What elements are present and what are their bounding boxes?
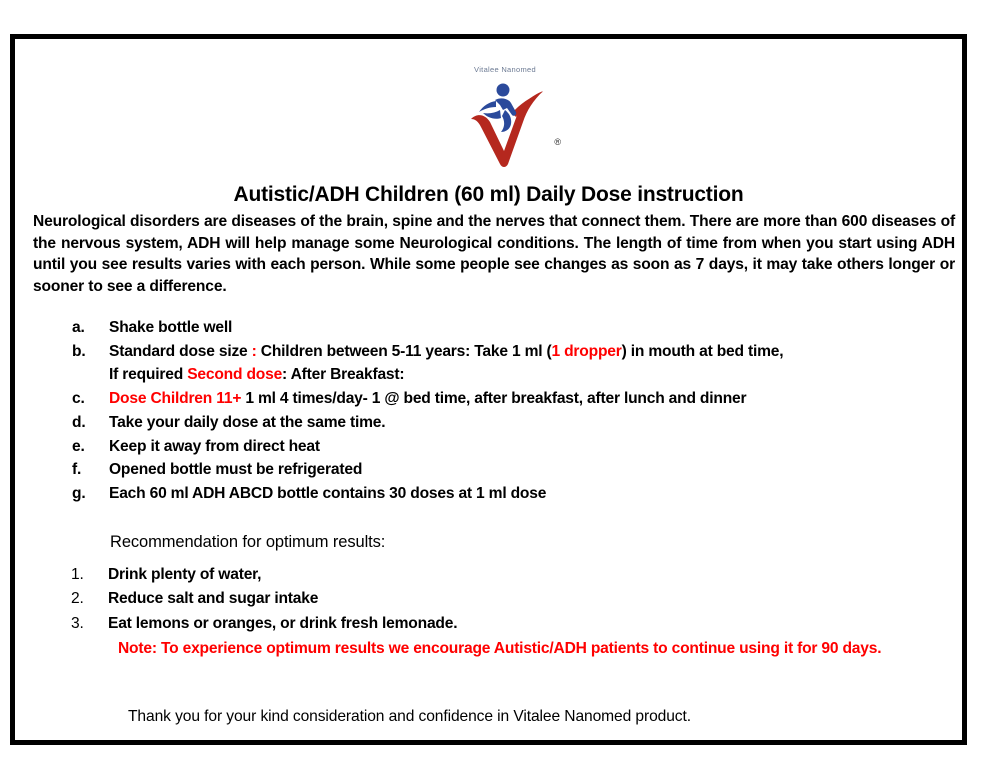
text-segment: Dose Children 11+ <box>109 390 241 407</box>
text-segment: Children between 5-11 years: Take 1 ml ( <box>257 343 552 360</box>
recommendation-list: 1.Drink plenty of water,2.Reduce salt an… <box>15 563 962 636</box>
text-segment: Opened bottle must be refrigerated <box>109 461 362 478</box>
list-item: f.Opened bottle must be refrigerated <box>15 458 962 482</box>
list-item-text: Reduce salt and sugar intake <box>108 587 962 611</box>
list-item-text: Drink plenty of water, <box>108 563 962 587</box>
text-segment: : After Breakfast: <box>282 366 404 383</box>
document-content-area: Vitalee Nanomed ® <box>15 39 962 740</box>
text-segment: Take your daily dose at the same time. <box>109 414 385 431</box>
list-item-text: Each 60 ml ADH ABCD bottle contains 30 d… <box>109 482 962 506</box>
text-segment: Keep it away from direct heat <box>109 438 320 455</box>
list-item: e.Keep it away from direct heat <box>15 435 962 459</box>
list-item-marker: 2. <box>71 587 108 611</box>
text-segment: Second dose <box>187 366 282 383</box>
list-item-marker: 1. <box>71 563 108 587</box>
document-page: Vitalee Nanomed ® <box>0 0 994 774</box>
text-segment: Each 60 ml ADH ABCD bottle contains 30 d… <box>109 485 546 502</box>
text-segment: If required <box>109 366 187 383</box>
list-item-marker: c. <box>72 387 109 411</box>
page-title: Autistic/ADH Children (60 ml) Daily Dose… <box>15 183 962 207</box>
text-segment: Shake bottle well <box>109 319 232 336</box>
instruction-list: a.Shake bottle wellb.Standard dose size … <box>15 316 962 506</box>
list-item: a.Shake bottle well <box>15 316 962 340</box>
document-border-frame: Vitalee Nanomed ® <box>10 34 967 745</box>
list-item: d.Take your daily dose at the same time. <box>15 411 962 435</box>
text-segment: 1 dropper <box>552 343 622 360</box>
brand-logo: Vitalee Nanomed ® <box>455 63 555 173</box>
list-item-text: Eat lemons or oranges, or drink fresh le… <box>108 612 962 636</box>
intro-paragraph: Neurological disorders are diseases of t… <box>33 211 955 297</box>
list-item: 1.Drink plenty of water, <box>15 563 962 587</box>
list-item-marker: f. <box>72 458 109 482</box>
list-item-marker: a. <box>72 316 109 340</box>
list-item-marker: d. <box>72 411 109 435</box>
list-item-text: Dose Children 11+ 1 ml 4 times/day- 1 @ … <box>109 387 962 411</box>
list-item: g.Each 60 ml ADH ABCD bottle contains 30… <box>15 482 962 506</box>
list-item-text: Take your daily dose at the same time. <box>109 411 962 435</box>
registered-trademark-icon: ® <box>554 137 561 147</box>
text-segment: ) in mouth at bed time, <box>622 343 784 360</box>
list-item-text: Keep it away from direct heat <box>109 435 962 459</box>
list-item-marker: e. <box>72 435 109 459</box>
list-item-marker: b. <box>72 340 109 364</box>
text-segment: 1 ml 4 times/day- 1 @ bed time, after br… <box>241 390 746 407</box>
list-item-text: Standard dose size : Children between 5-… <box>109 340 962 387</box>
list-item: b.Standard dose size : Children between … <box>15 340 962 387</box>
text-segment: Standard dose size <box>109 343 252 360</box>
list-item-continuation: If required Second dose: After Breakfast… <box>109 363 950 387</box>
list-item: 3.Eat lemons or oranges, or drink fresh … <box>15 612 962 636</box>
list-item-text: Shake bottle well <box>109 316 962 340</box>
list-item: 2.Reduce salt and sugar intake <box>15 587 962 611</box>
list-item-marker: g. <box>72 482 109 506</box>
list-item-text: Opened bottle must be refrigerated <box>109 458 962 482</box>
brand-wordmark: Vitalee Nanomed <box>455 65 555 74</box>
closing-thank-you: Thank you for your kind consideration an… <box>128 708 691 726</box>
note-text: Note: To experience optimum results we e… <box>118 637 948 661</box>
list-item-marker: 3. <box>71 612 108 636</box>
list-item: c.Dose Children 11+ 1 ml 4 times/day- 1 … <box>15 387 962 411</box>
vitalee-running-figure-icon <box>459 77 551 169</box>
recommendation-heading: Recommendation for optimum results: <box>110 533 385 552</box>
